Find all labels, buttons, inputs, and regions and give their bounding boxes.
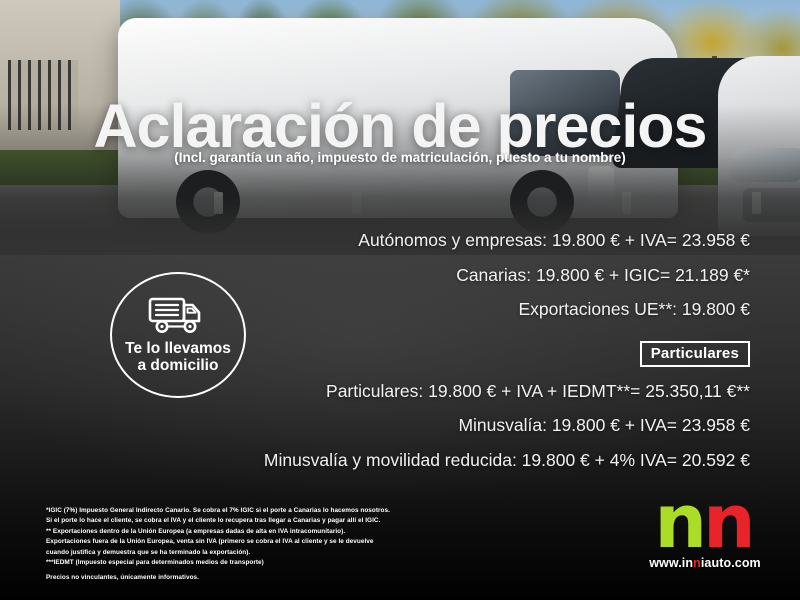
price-list: Autónomos y empresas: 19.800 € + IVA= 23… [230, 232, 750, 486]
logo-mark: n n [640, 490, 770, 552]
legal-line-2: Si el porte lo hace el cliente, se cobra… [46, 516, 516, 526]
legal-fine-print: *IGIC (7%) Impuesto General Indirecto Ca… [46, 506, 516, 584]
home-delivery-badge: Te lo llevamos a domicilio [110, 272, 246, 398]
legal-line-6: ***IEDMT (Impuesto especial para determi… [46, 558, 516, 568]
particulares-label: Particulares [640, 341, 750, 367]
brand-logo[interactable]: n n www.inniauto.com [640, 490, 770, 582]
legal-line-5: cuando justifica y demuestra que se ha t… [46, 548, 516, 558]
logo-letter-red: n [703, 494, 756, 552]
home-delivery-label: Te lo llevamos a domicilio [125, 340, 231, 375]
delivery-truck-icon [147, 296, 209, 340]
price-line-minusvalia: Minusvalía: 19.800 € + IVA= 23.958 € [230, 417, 750, 435]
price-line-minusvalia-movilidad: Minusvalía y movilidad reducida: 19.800 … [230, 452, 750, 470]
price-line-particulares: Particulares: 19.800 € + IVA + IEDMT**= … [230, 383, 750, 401]
page-subtitle: (Incl. garantía un año, impuesto de matr… [0, 150, 800, 165]
page-title: Aclaración de precios [0, 96, 800, 157]
price-clarification-poster: Aclaración de precios (Incl. garantía un… [0, 0, 800, 600]
logo-letter-green: n [654, 494, 707, 552]
price-line-exportaciones: Exportaciones UE**: 19.800 € [230, 301, 750, 319]
legal-line-4: Exportaciones fuera de la Unión Europea,… [46, 537, 516, 547]
legal-line-1: *IGIC (7%) Impuesto General Indirecto Ca… [46, 506, 516, 516]
legal-line-7: Precios no vinculantes, únicamente infor… [46, 573, 516, 583]
price-line-autonomos: Autónomos y empresas: 19.800 € + IVA= 23… [230, 232, 750, 250]
particulares-heading: Particulares [230, 341, 750, 367]
price-line-canarias: Canarias: 19.800 € + IGIC= 21.189 €* [230, 267, 750, 285]
legal-line-3: ** Exportaciones dentro de la Unión Euro… [46, 527, 516, 537]
